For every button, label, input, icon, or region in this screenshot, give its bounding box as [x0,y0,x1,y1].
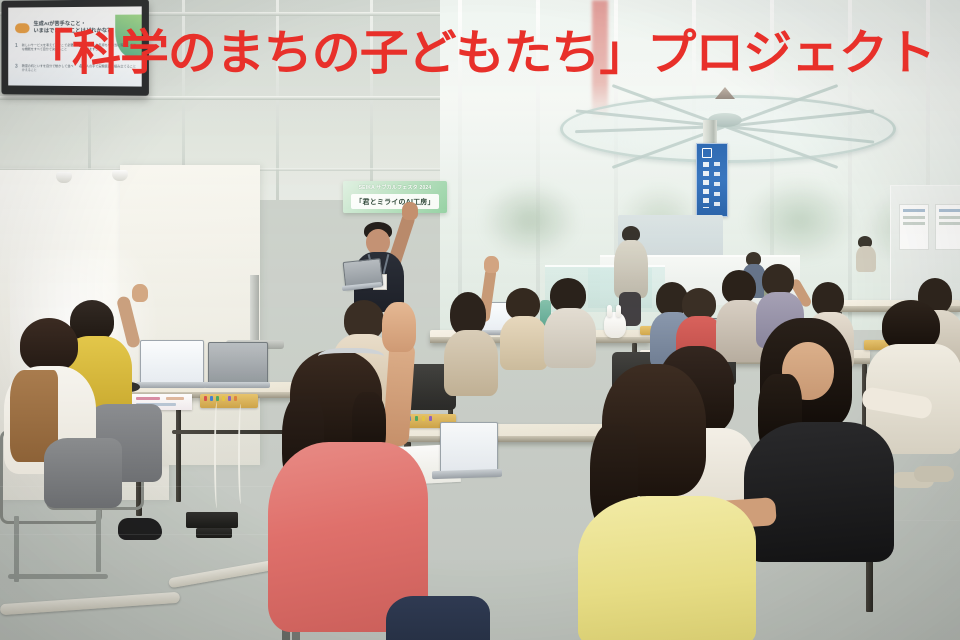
photo-scene: 生成AIが苦手なこと・ いまはできないことはどれかな？ 1 新しいサービスを考え… [0,0,960,640]
laptop [208,342,268,386]
slide-item-text: 人の手で実験装置を組み立てること [86,64,137,68]
slide-item-text: 友だちの気持ちを本当に理解してはげますこと [86,43,137,51]
plush-ear [616,305,621,317]
laptop-base [204,382,270,388]
laptop [140,340,204,386]
laptop-base [136,382,206,388]
slide-item-number: 4 [79,64,82,70]
event-banner: SEIKA サブカルフェスタ 2024 「君とミライのAI工房」 [343,181,447,213]
presentation-monitor: 生成AIが苦手なこと・ いまはできないことはどれかな？ 1 新しいサービスを考え… [1,0,148,96]
cable-cover [0,592,180,616]
marker-box [200,394,258,408]
slide-item-number: 2 [79,43,82,49]
slide-item-number: 3 [15,64,18,70]
slide-item-text: 新しいサービスを考えて、そこで必要な機能をすべて自分で決めること [22,43,75,51]
slide-item-number: 1 [15,43,18,49]
power-strip [196,528,232,538]
wayfinding-banner [696,143,728,217]
event-banner-main-line: 「君とミライのAI工房」 [355,197,434,207]
event-banner-title-box: 「君とミライのAI工房」 [351,194,439,209]
event-banner-top-line: SEIKA サブカルフェスタ 2024 [343,184,447,191]
slide-badge [15,23,30,33]
slide-heading-line-2: いまはできないことはどれかな？ [34,28,113,34]
monitor-stand-pole [250,275,259,345]
plush-ear [607,305,612,317]
slide-item-text: 教室の机といすを自分で動かして並べかえること [22,64,75,72]
slide-heading-line-1: 生成AIが苦手なこと・ [34,21,86,27]
power-strip [186,512,238,528]
shoe [118,518,162,540]
shoe [914,466,954,482]
presentation-slide: 生成AIが苦手なこと・ いまはできないことはどれかな？ 1 新しいサービスを考え… [8,6,142,86]
laptop [440,422,498,476]
laptop-base [432,469,502,479]
